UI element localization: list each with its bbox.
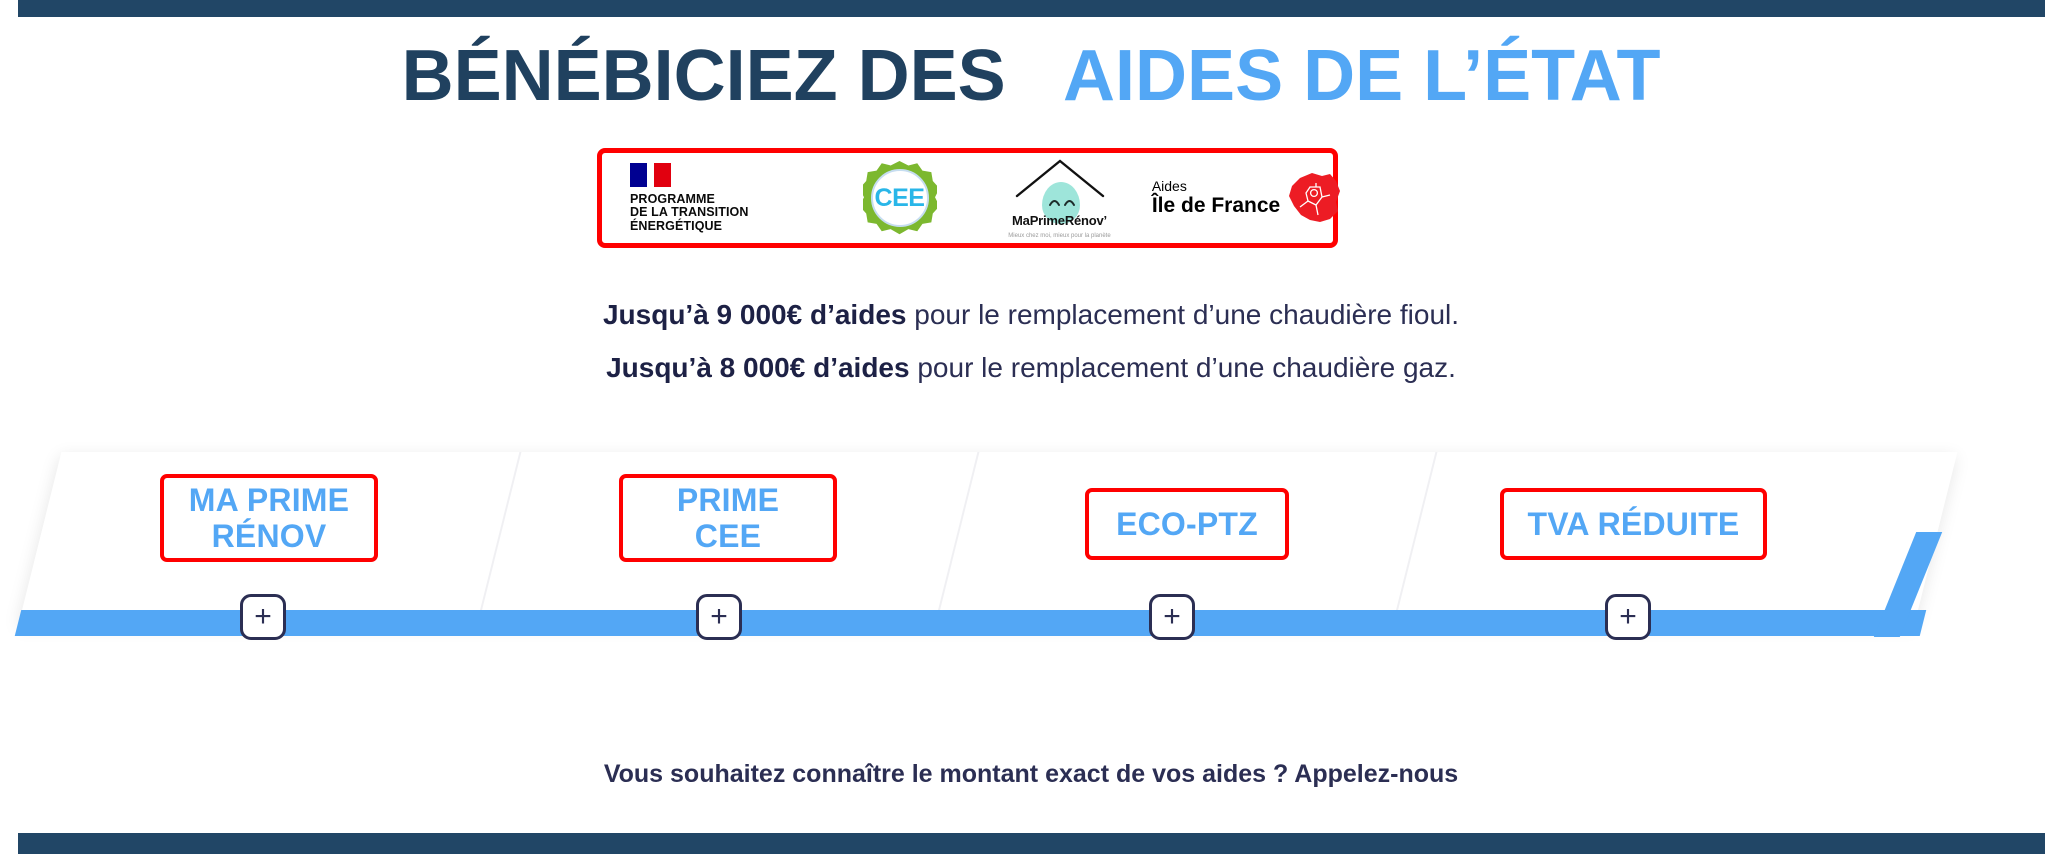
aid-expand-button-tva-reduite[interactable]: + <box>1605 594 1651 640</box>
aid-label-line2-1: CEE <box>677 518 779 554</box>
bottom-navy-rule <box>18 833 2045 854</box>
aid-amount-line-fioul: Jusqu’à 9 000€ d’aides pour le remplacem… <box>0 288 2062 341</box>
aid-label-line1-3: TVA RÉDUITE <box>1528 506 1740 542</box>
aid-button-prime-cee[interactable]: PRIME CEE <box>619 474 837 562</box>
partner-logos-strip: PROGRAMME DE LA TRANSITION ÉNERGÉTIQUE C… <box>597 148 1338 248</box>
aid-expand-button-eco-ptz[interactable]: + <box>1149 594 1195 640</box>
plus-icon: + <box>1163 602 1181 632</box>
logo-aides-ile-de-france: Aides Île de France <box>1152 153 1342 243</box>
ile-de-france-map-icon <box>1286 171 1342 225</box>
mpr-tagline: Mieux chez moi, mieux pour la planète <box>985 233 1135 239</box>
idf-line-1: Aides <box>1152 179 1280 194</box>
logo-maprimerenov: MaPrimeRénov’ Mieux chez moi, mieux pour… <box>967 153 1152 243</box>
aid-button-ma-prime-renov[interactable]: MA PRIME RÉNOV <box>160 474 378 562</box>
aid-amount-rest-fioul: pour le remplacement d’une chaudière fio… <box>906 299 1459 330</box>
aid-amount-bold-gaz: Jusqu’à 8 000€ d’aides <box>606 352 910 383</box>
page-title-light-part: AIDES DE L’ÉTAT <box>1063 36 1660 116</box>
cee-label: CEE <box>875 184 925 213</box>
panel-divider-1 <box>477 452 522 624</box>
logo-cee: CEE <box>832 153 967 243</box>
aid-amount-bold-fioul: Jusqu’à 9 000€ d’aides <box>603 299 907 330</box>
aid-amount-lines: Jusqu’à 9 000€ d’aides pour le remplacem… <box>0 288 2062 394</box>
panel-divider-3 <box>1393 452 1438 624</box>
page-title: BÉNÉBICIEZ DES AIDES DE L’ÉTAT <box>0 40 2062 112</box>
plus-icon: + <box>1619 602 1637 632</box>
aid-expand-button-ma-prime-renov[interactable]: + <box>240 594 286 640</box>
aid-button-eco-ptz[interactable]: ECO-PTZ <box>1085 488 1289 560</box>
idf-line-2: Île de France <box>1152 194 1280 217</box>
pte-line-2: DE LA TRANSITION <box>630 206 749 220</box>
aid-label-line1-1: PRIME <box>677 482 779 518</box>
aid-button-tva-reduite[interactable]: TVA RÉDUITE <box>1500 488 1767 560</box>
panel-divider-2 <box>935 452 980 624</box>
top-navy-rule <box>18 0 2045 17</box>
mpr-smiling-eyes-icon <box>1048 196 1076 208</box>
aid-expand-button-prime-cee[interactable]: + <box>696 594 742 640</box>
mpr-name: MaPrimeRénov’ <box>985 213 1135 228</box>
page-root: BÉNÉBICIEZ DES AIDES DE L’ÉTAT PROGRAMME… <box>0 0 2062 854</box>
aid-label-line2-0: RÉNOV <box>189 518 349 554</box>
page-title-dark-part: BÉNÉBICIEZ DES <box>402 36 1006 116</box>
plus-icon: + <box>254 602 272 632</box>
french-flag-icon <box>630 163 749 187</box>
aid-label-line1-2: ECO-PTZ <box>1116 506 1258 542</box>
logo-programme-transition-energetique: PROGRAMME DE LA TRANSITION ÉNERGÉTIQUE <box>602 153 832 243</box>
plus-icon: + <box>710 602 728 632</box>
pte-line-1: PROGRAMME <box>630 193 749 207</box>
aid-amount-line-gaz: Jusqu’à 8 000€ d’aides pour le remplacem… <box>0 341 2062 394</box>
aid-label-line1-0: MA PRIME <box>189 482 349 518</box>
aids-panel-area: MA PRIME RÉNOV + PRIME CEE + ECO-PTZ + <box>0 440 2062 660</box>
footer-call-prompt: Vous souhaitez connaître le montant exac… <box>0 760 2062 789</box>
pte-line-3: ÉNERGÉTIQUE <box>630 220 749 234</box>
aid-amount-rest-gaz: pour le remplacement d’une chaudière gaz… <box>910 352 1456 383</box>
